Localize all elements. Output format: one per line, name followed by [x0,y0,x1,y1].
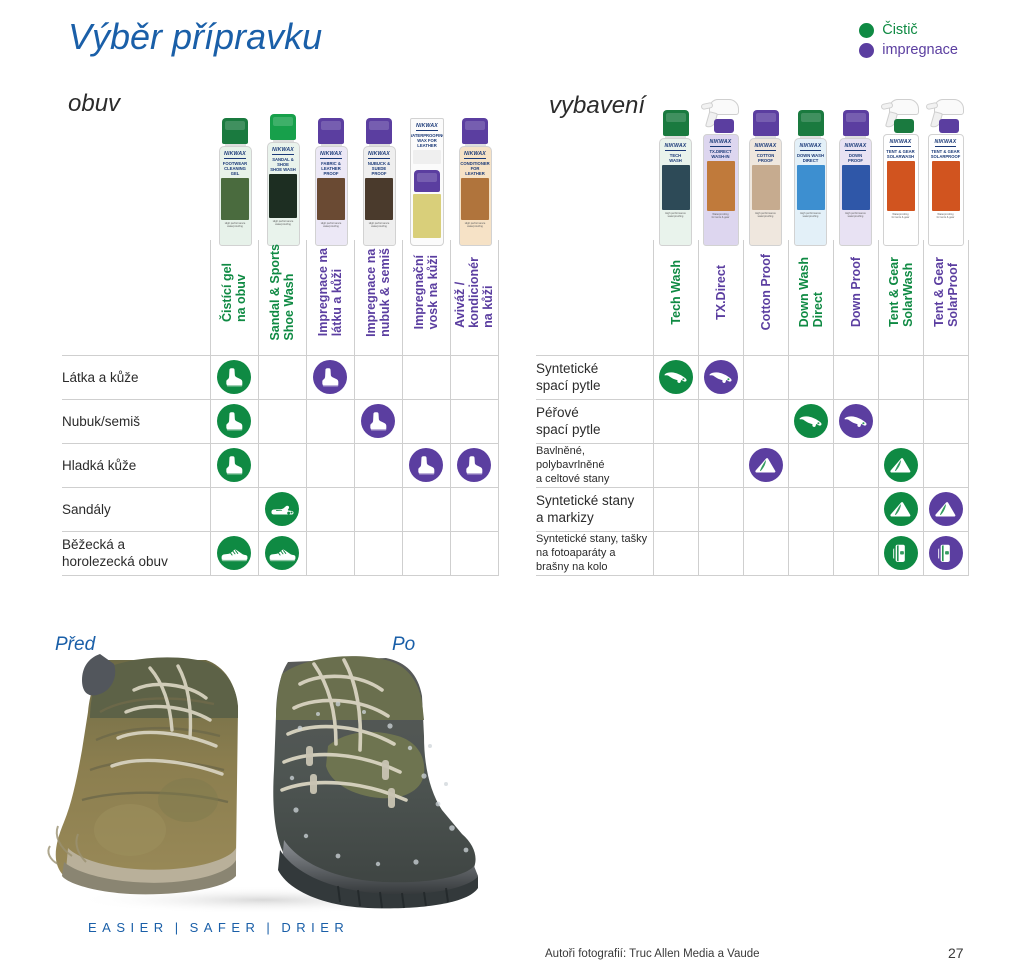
table-row: Hladká kůže [62,443,498,487]
table-row: Bavlněné, polybavrlněné a celtové stany [536,443,968,487]
matrix-cell-3-0[interactable] [653,487,698,531]
spray-collar [894,119,914,133]
table-row: Syntetické spací pytle [536,355,968,399]
bottle-cap [318,118,344,144]
product-slot-0: NIKWAXFOOTWEARCLEANING GELHigh performan… [211,96,259,246]
legend-item-cleaner: Čistič [859,22,958,38]
row-label-0: Syntetické spací pytle [536,355,653,399]
picto-boot-green [217,360,251,394]
matrix-cell-2-4[interactable] [833,443,878,487]
column-header-label: TX.Direct [714,265,728,320]
matrix-cell-0-4[interactable] [833,355,878,399]
picto-sneaker-green [217,536,251,570]
footwear-product-images: NIKWAXFOOTWEARCLEANING GELHigh performan… [211,96,499,246]
column-header-4[interactable]: Impregnační vosk na kůži [402,240,450,355]
product-slot-5: NIKWAXCONDITIONERFOR LEATHERHigh perform… [451,96,499,246]
nikwax-logo: NIKWAX [845,143,867,151]
bottle-body: NIKWAXSANDAL & SHOESHOE WASHHigh perform… [267,142,300,246]
matrix-cell-4-6[interactable] [923,531,968,575]
matrix-cell-2-3[interactable] [788,443,833,487]
legend-dot-green [859,23,874,38]
product-bottle-0: NIKWAXTECHWASHHigh performancewaterproof… [659,110,692,246]
gear-matrix-table: Tech WashTX.DirectCotton ProofDown Wash … [536,240,969,576]
matrix-cell-4-0[interactable] [653,531,698,575]
product-fineprint: Waterproofingfor tents & gear [711,213,731,220]
bottle-body: NIKWAXTX.DIRECTWASH-INWaterproofingfor t… [703,134,739,246]
product-photo [413,150,441,164]
product-label: TECHWASH [668,153,683,163]
nikwax-logo: NIKWAX [755,143,777,151]
column-header-2[interactable]: Impregnace na látku a kůži [306,240,354,355]
matrix-cell-2-3[interactable] [354,443,402,487]
spray-trigger [701,95,741,135]
bottle-body: NIKWAXCONDITIONERFOR LEATHERHigh perform… [459,146,492,246]
matrix-cell-3-4[interactable] [402,487,450,531]
matrix-cell-2-5[interactable] [450,443,498,487]
bottle-cap [414,170,440,192]
matrix-cell-0-4[interactable] [402,355,450,399]
product-fineprint: Waterproofingfor tents & gear [891,213,911,220]
boot-clean [273,656,478,908]
matrix-cell-0-2[interactable] [306,355,354,399]
column-header-label: Tent & Gear SolarProof [932,257,960,327]
product-bottle-3: NIKWAXDOWN WASHDIRECTHigh performancewat… [794,110,827,246]
matrix-cell-0-0[interactable] [653,355,698,399]
product-spray-5: NIKWAXTENT & GEARSOLARWASHWaterproofingf… [881,95,921,246]
bottle-body: NIKWAXFOOTWEARCLEANING GELHigh performan… [219,146,252,246]
matrix-cell-0-1[interactable] [258,355,306,399]
nikwax-logo: NIKWAX [272,147,294,155]
product-bottle-2: NIKWAXCOTTONPROOFHigh performancewaterpr… [749,110,782,246]
picto-tent-purple [929,492,963,526]
legend-label-proofer: impregnace [882,42,958,58]
page-title: Výběr přípravku [68,16,322,58]
matrix-cell-3-1[interactable] [258,487,306,531]
bottle-cap [798,110,824,136]
spray-trigger [881,95,921,135]
nikwax-logo: NIKWAX [710,139,732,147]
product-label: CONDITIONERFOR LEATHER [459,161,490,176]
tagline-sep-2: | [260,920,281,935]
product-fineprint: High performancewaterproofing [464,222,487,229]
tagline-word-safer: SAFER [190,920,261,935]
product-photo [317,178,345,220]
column-header-label: Down Wash Direct [797,257,825,327]
column-header-4[interactable]: Down Proof [833,240,878,355]
legend: Čistič impregnace [859,22,958,58]
picto-boot-purple [409,448,443,482]
matrix-cell-2-1[interactable] [698,443,743,487]
footwear-matrix-table: Čistící gel na obuvSandal & Sports Shoe … [62,240,499,576]
product-bottle-3: NIKWAXNUBUCK &SUEDE PROOFHigh performanc… [363,118,396,246]
matrix-cell-3-3[interactable] [788,487,833,531]
picto-sleepingbag-purple [839,404,873,438]
column-header-label: Sandal & Sports Shoe Wash [268,244,296,341]
product-photo [752,165,780,210]
matrix-cell-4-4[interactable] [833,531,878,575]
matrix-cell-0-1[interactable] [698,355,743,399]
product-slot-1: NIKWAXSANDAL & SHOESHOE WASHHigh perform… [259,96,307,246]
product-slot-1: NIKWAXTX.DIRECTWASH-INWaterproofingfor t… [698,84,743,246]
column-header-0[interactable]: Tech Wash [653,240,698,355]
picto-sleepingbag-purple [704,360,738,394]
product-label: DOWNPROOF [847,153,864,163]
product-fineprint: Waterproofingfor tents & gear [936,213,956,220]
matrix-cell-2-2[interactable] [306,443,354,487]
product-fineprint: High performancewaterproofing [272,220,295,227]
section-title-gear: vybavení [549,92,645,120]
matrix-cell-0-6[interactable] [923,355,968,399]
nikwax-logo: NIKWAX [935,139,957,147]
row-label-1: Nubuk/semiš [62,399,210,443]
product-fineprint: High performancewaterproofing [320,222,343,229]
product-label: COTTONPROOF [756,153,776,163]
column-header-2[interactable]: Cotton Proof [743,240,788,355]
matrix-cell-3-3[interactable] [354,487,402,531]
matrix-cell-1-1[interactable] [698,399,743,443]
matrix-cell-2-0[interactable] [210,443,258,487]
product-slot-3: NIKWAXNUBUCK &SUEDE PROOFHigh performanc… [355,96,403,246]
table-row: Sandály [62,487,498,531]
picto-boot-green [217,448,251,482]
matrix-cell-2-0[interactable] [653,443,698,487]
product-spray-1: NIKWAXTX.DIRECTWASH-INWaterproofingfor t… [701,95,741,246]
picto-boot-purple [361,404,395,438]
matrix-cell-1-0[interactable] [653,399,698,443]
picto-boot-purple [457,448,491,482]
column-header-6[interactable]: Tent & Gear SolarProof [923,240,968,355]
picto-sneaker-green [265,536,299,570]
matrix-cell-4-2[interactable] [743,531,788,575]
product-photo [842,165,870,210]
product-fineprint: High performancewaterproofing [754,212,777,219]
row-label-2: Hladká kůže [62,443,210,487]
product-slot-4: NIKWAXWATERPROOFINGWAX FOR LEATHER [403,96,451,246]
matrix-cell-4-5[interactable] [878,531,923,575]
matrix-cell-1-5[interactable] [878,399,923,443]
column-header-label: Impregnace na látku a kůži [316,248,344,336]
product-tube-4: NIKWAXWATERPROOFINGWAX FOR LEATHER [410,119,444,246]
gear-product-images: NIKWAXTECHWASHHigh performancewaterproof… [653,84,968,246]
bottle-body: NIKWAXFABRIC &LEATHER PROOFHigh performa… [315,146,348,246]
product-photo [365,178,393,220]
product-photo [662,165,690,210]
footwear-table: Čistící gel na obuvSandal & Sports Shoe … [62,240,499,576]
nikwax-logo: NIKWAX [890,139,912,147]
table-corner [536,240,653,355]
tagline-word-drier: DRIER [281,920,349,935]
product-fineprint: High performancewaterproofing [799,212,822,219]
row-label-0: Látka a kůže [62,355,210,399]
bottle-cap [366,118,392,144]
picto-boot-purple [313,360,347,394]
table-row: Syntetické stany a markizy [536,487,968,531]
tagline-sep-1: | [169,920,190,935]
product-slot-6: NIKWAXTENT & GEARSOLARPROOFWaterproofing… [923,84,968,246]
picto-sandal-green [265,492,299,526]
product-photo [707,161,735,211]
spray-collar [939,119,959,133]
product-fineprint: High performancewaterproofing [368,222,391,229]
matrix-cell-4-5[interactable] [450,531,498,575]
table-row: Nubuk/semiš [62,399,498,443]
product-photo [461,178,489,220]
product-slot-5: NIKWAXTENT & GEARSOLARWASHWaterproofingf… [878,84,923,246]
spray-collar [714,119,734,133]
product-label: FOOTWEARCLEANING GEL [220,161,251,176]
tagline-word-easier: EASIER [88,920,169,935]
product-fineprint: High performancewaterproofing [664,212,687,219]
matrix-cell-3-5[interactable] [450,487,498,531]
nikwax-logo: NIKWAX [320,151,342,159]
product-label: FABRIC &LEATHER PROOF [316,161,347,176]
matrix-cell-0-5[interactable] [878,355,923,399]
matrix-cell-4-1[interactable] [258,531,306,575]
matrix-cell-4-2[interactable] [306,531,354,575]
product-fineprint: High performancewaterproofing [224,222,247,229]
row-label-2: Bavlněné, polybavrlněné a celtové stany [536,443,653,487]
product-fineprint: High performancewaterproofing [844,212,867,219]
picto-tent-green [884,492,918,526]
product-bottle-4: NIKWAXDOWNPROOFHigh performancewaterproo… [839,110,872,246]
matrix-cell-1-3[interactable] [788,399,833,443]
product-slot-2: NIKWAXFABRIC &LEATHER PROOFHigh performa… [307,96,355,246]
column-header-label: Impregnace na nubuk & semiš [364,248,392,337]
legend-label-cleaner: Čistič [882,22,917,38]
matrix-cell-0-5[interactable] [450,355,498,399]
matrix-cell-2-5[interactable] [878,443,923,487]
picto-sleepingbag-green [794,404,828,438]
product-label: NUBUCK &SUEDE PROOF [364,161,395,176]
column-header-label: Čistící gel na obuv [220,263,248,322]
section-title-footwear: obuv [68,90,120,118]
matrix-cell-0-2[interactable] [743,355,788,399]
bottle-body: NIKWAXTENT & GEARSOLARPROOFWaterproofing… [928,134,964,246]
matrix-cell-1-2[interactable] [306,399,354,443]
picto-boot-green [217,404,251,438]
matrix-cell-2-2[interactable] [743,443,788,487]
row-label-1: Péřové spací pytle [536,399,653,443]
table-corner [62,240,210,355]
spray-trigger [926,95,966,135]
nikwax-logo: NIKWAX [464,151,486,159]
boots-photo [38,650,488,912]
boot-muddy [48,654,238,894]
product-photo [221,178,249,220]
column-header-1[interactable]: Sandal & Sports Shoe Wash [258,240,306,355]
product-photo [269,174,297,218]
product-bottle-2: NIKWAXFABRIC &LEATHER PROOFHigh performa… [315,118,348,246]
column-header-label: Tech Wash [669,260,683,325]
row-label-3: Syntetické stany a markizy [536,487,653,531]
product-bottle-1: NIKWAXSANDAL & SHOESHOE WASHHigh perform… [267,114,300,246]
matrix-cell-2-4[interactable] [402,443,450,487]
product-label: TENT & GEARSOLARPROOF [930,149,962,159]
bottle-cap [753,110,779,136]
column-header-label: Impregnační vosk na kůži [412,255,440,329]
picto-backpack-purple [929,536,963,570]
matrix-cell-1-0[interactable] [210,399,258,443]
matrix-cell-1-1[interactable] [258,399,306,443]
matrix-cell-1-5[interactable] [450,399,498,443]
product-label: DOWN WASHDIRECT [796,153,825,163]
legend-dot-purple [859,43,874,58]
table-row: Syntetické stany, tašky na fotoaparáty a… [536,531,968,575]
matrix-cell-1-6[interactable] [923,399,968,443]
matrix-cell-3-5[interactable] [878,487,923,531]
table-row: Látka a kůže [62,355,498,399]
product-bottle-0: NIKWAXFOOTWEARCLEANING GELHigh performan… [219,118,252,246]
matrix-cell-4-3[interactable] [788,531,833,575]
column-header-5[interactable]: Tent & Gear SolarWash [878,240,923,355]
table-row: Péřové spací pytle [536,399,968,443]
product-photo [797,165,825,210]
bottle-body: NIKWAXTENT & GEARSOLARWASHWaterproofingf… [883,134,919,246]
bottle-cap [462,118,488,144]
product-label: SANDAL & SHOESHOE WASH [268,157,299,172]
product-slot-2: NIKWAXCOTTONPROOFHigh performancewaterpr… [743,84,788,246]
bottle-body: NIKWAXNUBUCK &SUEDE PROOFHigh performanc… [363,146,396,246]
product-label: TENT & GEARSOLARWASH [885,149,915,159]
legend-item-proofer: impregnace [859,42,958,58]
page-number: 27 [948,945,964,961]
matrix-cell-4-0[interactable] [210,531,258,575]
column-header-label: Tent & Gear SolarWash [887,257,915,327]
row-label-3: Sandály [62,487,210,531]
photo-credit: Autoři fotografií: Truc Allen Media a Va… [545,948,760,960]
matrix-cell-3-2[interactable] [306,487,354,531]
product-bottle-5: NIKWAXCONDITIONERFOR LEATHERHigh perform… [459,118,492,246]
nikwax-logo: NIKWAX [800,143,822,151]
matrix-cell-1-4[interactable] [833,399,878,443]
tagline: EASIER|SAFER|DRIER [88,920,349,935]
matrix-cell-0-3[interactable] [788,355,833,399]
bottle-cap [222,118,248,144]
product-slot-3: NIKWAXDOWN WASHDIRECTHigh performancewat… [788,84,833,246]
matrix-cell-2-6[interactable] [923,443,968,487]
matrix-cell-3-4[interactable] [833,487,878,531]
product-photo [932,161,960,211]
bottle-cap [270,114,296,140]
bottle-body: NIKWAXCOTTONPROOFHigh performancewaterpr… [749,138,782,246]
product-spray-6: NIKWAXTENT & GEARSOLARPROOFWaterproofing… [926,95,966,246]
matrix-cell-4-1[interactable] [698,531,743,575]
matrix-cell-3-6[interactable] [923,487,968,531]
column-header-3[interactable]: Down Wash Direct [788,240,833,355]
matrix-cell-0-3[interactable] [354,355,402,399]
product-slot-4: NIKWAXDOWNPROOFHigh performancewaterproo… [833,84,878,246]
matrix-cell-4-3[interactable] [354,531,402,575]
nikwax-logo: NIKWAX [368,151,390,159]
matrix-cell-4-4[interactable] [402,531,450,575]
matrix-cell-1-3[interactable] [354,399,402,443]
product-photo-lower [413,194,441,238]
picto-sleepingbag-green [659,360,693,394]
matrix-cell-1-4[interactable] [402,399,450,443]
column-header-label: Aviváž / kondicionér na kůži [453,257,495,328]
matrix-cell-2-1[interactable] [258,443,306,487]
bottle-body: NIKWAXTECHWASHHigh performancewaterproof… [659,138,692,246]
nikwax-logo: NIKWAX [224,151,246,159]
column-header-3[interactable]: Impregnace na nubuk & semiš [354,240,402,355]
picto-tent-green [884,448,918,482]
bottle-cap [843,110,869,136]
product-slot-0: NIKWAXTECHWASHHigh performancewaterproof… [653,84,698,246]
matrix-cell-1-2[interactable] [743,399,788,443]
matrix-cell-3-1[interactable] [698,487,743,531]
bottle-body: NIKWAXDOWN WASHDIRECTHigh performancewat… [794,138,827,246]
column-header-1[interactable]: TX.Direct [698,240,743,355]
picto-tent-purple [749,448,783,482]
gear-table: Tech WashTX.DirectCotton ProofDown Wash … [536,240,969,576]
column-header-5[interactable]: Aviváž / kondicionér na kůži [450,240,498,355]
matrix-cell-0-0[interactable] [210,355,258,399]
row-label-4: Syntetické stany, tašky na fotoaparáty a… [536,531,653,575]
product-photo [887,161,915,211]
column-header-label: Cotton Proof [759,254,773,330]
column-header-label: Down Proof [849,257,863,327]
table-row: Běžecká a horolezecká obuv [62,531,498,575]
page-root: Výběr přípravku Čistič impregnace obuv v… [0,0,1033,971]
row-label-4: Běžecká a horolezecká obuv [62,531,210,575]
nikwax-logo: NIKWAX [416,123,438,131]
column-header-0[interactable]: Čistící gel na obuv [210,240,258,355]
bottle-body: NIKWAXDOWNPROOFHigh performancewaterproo… [839,138,872,246]
product-label: TX.DIRECTWASH-IN [708,149,732,159]
product-label: WATERPROOFINGWAX FOR LEATHER [410,133,444,148]
bottle-cap [663,110,689,136]
matrix-cell-3-2[interactable] [743,487,788,531]
matrix-cell-3-0[interactable] [210,487,258,531]
picto-backpack-green [884,536,918,570]
nikwax-logo: NIKWAX [665,143,687,151]
bottle-body: NIKWAXWATERPROOFINGWAX FOR LEATHER [410,118,444,246]
